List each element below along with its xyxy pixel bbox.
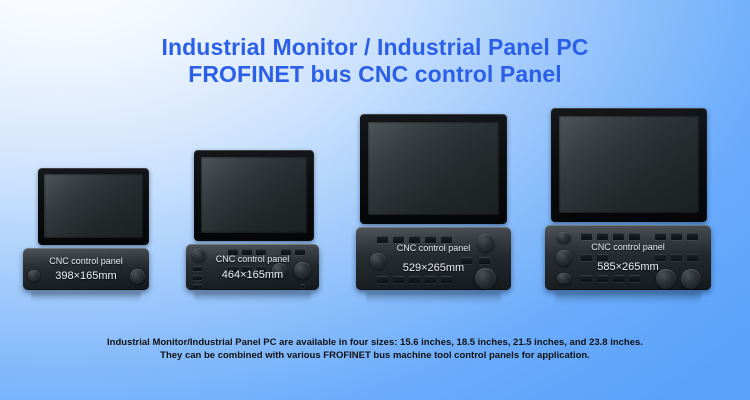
device-4-button[interactable]: [597, 233, 608, 240]
device-4-button[interactable]: [629, 233, 640, 240]
device-4-button[interactable]: [629, 275, 640, 282]
device-4-button[interactable]: [613, 275, 624, 282]
device-3-button[interactable]: [441, 236, 452, 243]
device-2-monitor: [194, 150, 314, 241]
device-4-button[interactable]: [655, 233, 666, 240]
device-3-panel-label: CNC control panel: [356, 243, 511, 254]
device-3-monitor: [360, 114, 507, 224]
device-3-button[interactable]: [377, 276, 388, 283]
device-4-control-panel[interactable]: CNC control panel 585×265mm: [545, 225, 711, 290]
device-3-button[interactable]: [393, 236, 404, 243]
device-1-panel-label: CNC control panel: [23, 256, 149, 267]
device-2[interactable]: CNC control panel 464×165mm: [186, 150, 319, 292]
device-2-button[interactable]: [300, 284, 305, 288]
device-4-button[interactable]: [655, 254, 666, 261]
device-4-button[interactable]: [687, 233, 698, 240]
device-4-panel-label: CNC control panel: [545, 242, 711, 253]
device-3-button[interactable]: [441, 276, 452, 283]
footer-caption-line-2: They can be combined with various FROFIN…: [0, 349, 750, 362]
device-4-button[interactable]: [597, 254, 608, 261]
device-1-size-label: 398×165mm: [23, 270, 149, 283]
device-4-button[interactable]: [581, 233, 592, 240]
footer-caption-line-1: Industrial Monitor/Industrial Panel PC a…: [0, 336, 750, 349]
device-3-button[interactable]: [425, 236, 436, 243]
device-4-size-label: 585×265mm: [545, 261, 711, 274]
device-2-reflection: [194, 292, 311, 303]
device-3-button[interactable]: [409, 276, 420, 283]
device-1-monitor: [38, 168, 149, 245]
device-4-button[interactable]: [671, 233, 682, 240]
device-3-button[interactable]: [377, 236, 388, 243]
device-2-button[interactable]: [193, 284, 202, 289]
device-3-button[interactable]: [409, 236, 420, 243]
device-3-control-panel[interactable]: CNC control panel 529×265mm: [356, 227, 511, 290]
device-3-size-label: 529×265mm: [356, 262, 511, 275]
device-1-reflection: [31, 292, 141, 302]
device-4-screen: [559, 116, 699, 213]
device-3-screen: [368, 122, 499, 215]
footer-caption: Industrial Monitor/Industrial Panel PC a…: [0, 336, 750, 362]
device-1[interactable]: CNC control panel 398×165mm: [23, 168, 149, 292]
device-3-reflection: [366, 292, 501, 304]
device-2-size-label: 464×165mm: [186, 269, 319, 282]
device-4-monitor: [551, 108, 707, 222]
device-4-reflection: [555, 292, 701, 304]
device-4-button[interactable]: [597, 275, 608, 282]
device-3-button[interactable]: [393, 276, 404, 283]
device-4-button[interactable]: [581, 254, 592, 261]
device-4-button[interactable]: [581, 275, 592, 282]
device-1-screen: [44, 174, 143, 238]
device-4-button[interactable]: [687, 254, 698, 261]
device-2-panel-label: CNC control panel: [186, 254, 319, 265]
device-4-button[interactable]: [671, 254, 682, 261]
device-4[interactable]: CNC control panel 585×265mm: [545, 108, 711, 292]
device-4-button[interactable]: [613, 233, 624, 240]
device-2-control-panel[interactable]: CNC control panel 464×165mm: [186, 244, 319, 290]
device-3-button[interactable]: [425, 276, 436, 283]
device-4-knob-bottomleft[interactable]: [557, 273, 571, 284]
device-2-screen: [201, 157, 307, 233]
device-1-control-panel[interactable]: CNC control panel 398×165mm: [23, 248, 149, 290]
device-3[interactable]: CNC control panel 529×265mm: [356, 114, 511, 292]
